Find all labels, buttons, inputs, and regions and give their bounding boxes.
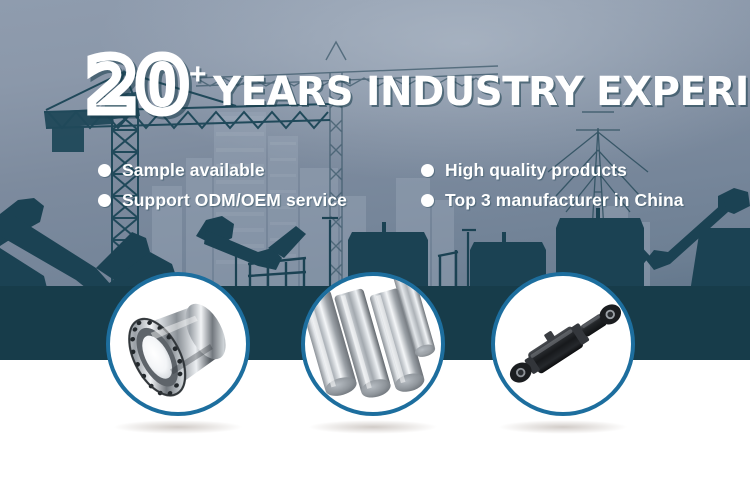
product-shadow: [113, 420, 243, 434]
product-circle-hydraulic-cylinder[interactable]: [491, 272, 635, 416]
product-circle-steel-bars[interactable]: [301, 272, 445, 416]
years-number-wrap: 20 20 +: [86, 58, 207, 116]
product-shadow: [308, 420, 438, 434]
product-circle-flanged-pipe[interactable]: [106, 272, 250, 416]
product-shadow: [498, 420, 628, 434]
plus-superscript: +: [189, 60, 207, 90]
promo-banner: 20 20 + YEARS INDUSTRY EXPERIENCE Sample…: [0, 0, 750, 482]
years-number: 20: [86, 58, 187, 116]
polished-steel-round-bars-image: [305, 276, 441, 412]
flanged-steel-pipe-cylinder-image: [110, 276, 246, 412]
black-hydraulic-cylinder-image: [495, 276, 631, 412]
